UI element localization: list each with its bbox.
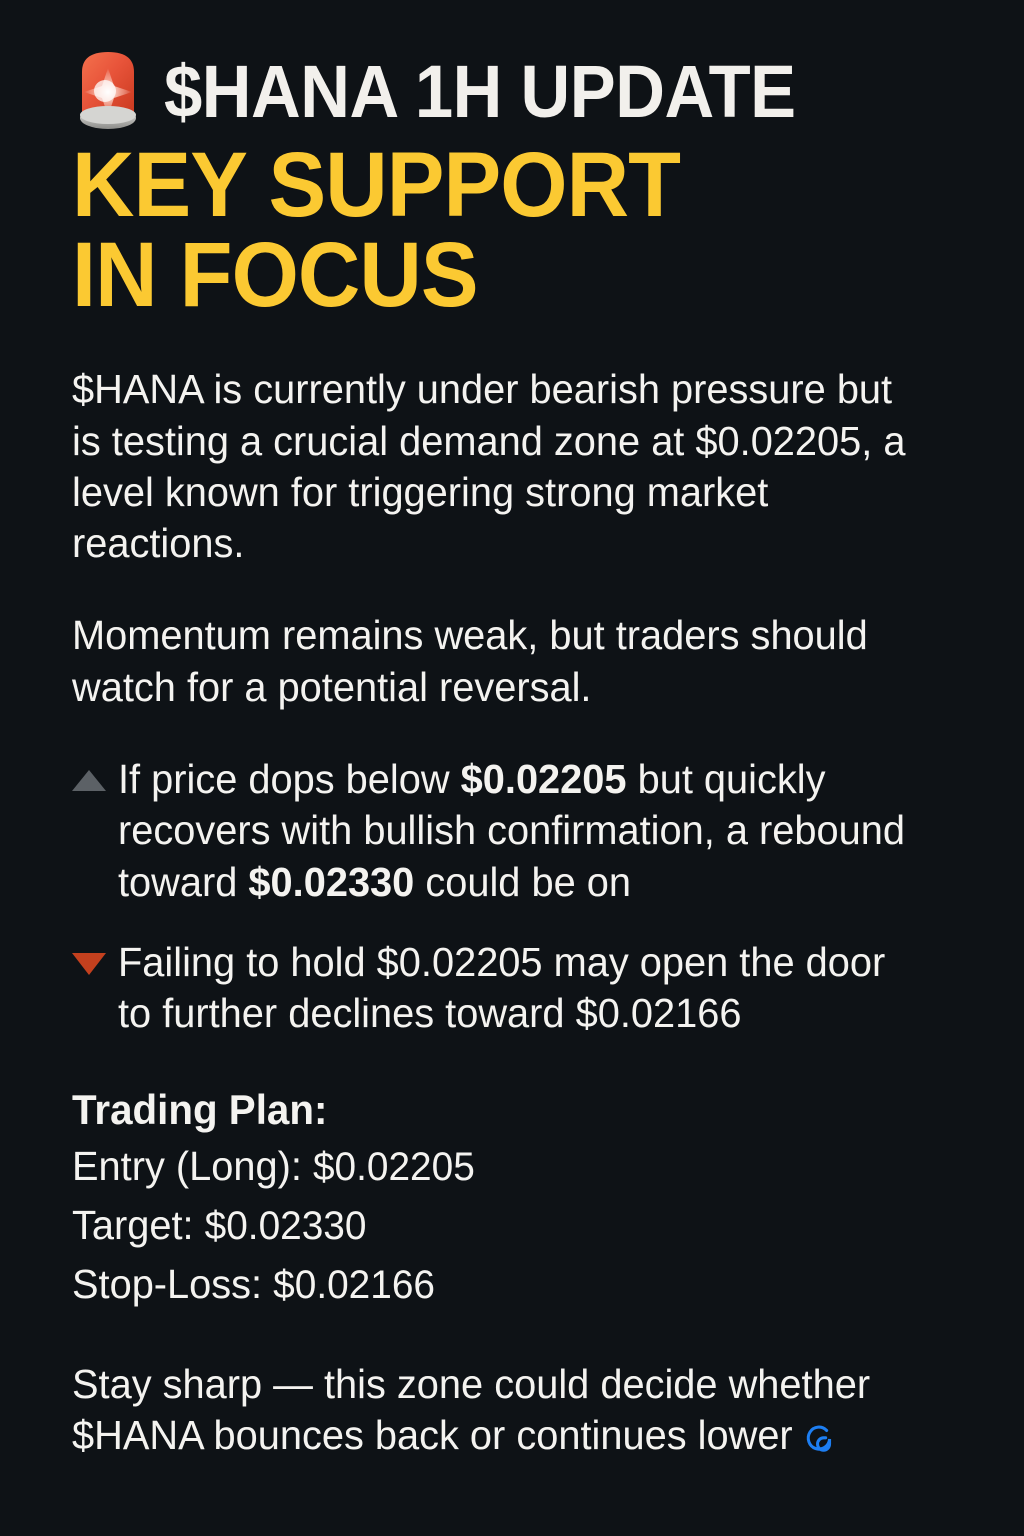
list-item-bullish: If price dops below $0.02205 but quickly… — [72, 754, 952, 909]
blue-spiral-icon — [802, 1417, 835, 1451]
trading-plan-row-entry: Entry (Long): $0.02205 — [72, 1137, 926, 1196]
stoploss-label: Stop-Loss: — [72, 1261, 273, 1307]
headline: KEY SUPPORT IN FOCUS — [72, 140, 899, 320]
triangle-down-icon — [72, 953, 106, 975]
bullet-bullish-before: If price dops below — [118, 756, 461, 802]
post-card: $HANA 1H UPDATE KEY SUPPORT IN FOCUS $HA… — [0, 0, 1024, 1536]
triangle-up-icon — [72, 770, 106, 791]
body-paragraphs: $HANA is currently under bearish pressur… — [72, 364, 952, 713]
page-title: $HANA 1H UPDATE — [164, 57, 796, 127]
headline-line-1: KEY SUPPORT — [72, 140, 899, 230]
bullet-bearish-before: Failing to hold — [118, 939, 377, 985]
header: $HANA 1H UPDATE — [72, 0, 952, 118]
entry-value: $0.02205 — [313, 1145, 475, 1189]
trading-plan-title: Trading Plan: — [72, 1084, 917, 1137]
target-value: $0.02330 — [205, 1204, 367, 1248]
bullet-bullish-price-2: $0.02330 — [248, 859, 414, 905]
stoploss-value: $0.02166 — [273, 1263, 435, 1307]
bullet-bearish-price-1: $0.02205 — [377, 939, 543, 985]
trading-plan-row-stoploss: Stop-Loss: $0.02166 — [72, 1255, 926, 1314]
bullet-bullish-text: If price dops below $0.02205 but quickly… — [118, 754, 927, 909]
bullet-bullish-price-1: $0.02205 — [461, 756, 627, 802]
trading-plan-row-target: Target: $0.02330 — [72, 1196, 926, 1255]
entry-label: Entry (Long): — [72, 1143, 313, 1189]
footer-text: Stay sharp — this zone could decide whet… — [72, 1361, 870, 1458]
target-label: Target: — [72, 1202, 205, 1248]
paragraph-momentum: Momentum remains weak, but traders shoul… — [72, 610, 926, 713]
bullet-bearish-price-2: $0.02166 — [576, 990, 742, 1036]
list-item-bearish: Failing to hold $0.02205 may open the do… — [72, 937, 952, 1040]
paragraph-intro: $HANA is currently under bearish pressur… — [72, 364, 926, 569]
headline-line-2: IN FOCUS — [72, 230, 899, 320]
scenario-list: If price dops below $0.02205 but quickly… — [72, 754, 952, 1040]
bullet-bearish-text: Failing to hold $0.02205 may open the do… — [118, 937, 927, 1040]
footer-note: Stay sharp — this zone could decide whet… — [72, 1359, 926, 1462]
rotating-beacon-icon — [72, 46, 144, 138]
trading-plan: Trading Plan: Entry (Long): $0.02205 Tar… — [72, 1084, 952, 1315]
bullet-bullish-after: could be on — [414, 859, 631, 905]
